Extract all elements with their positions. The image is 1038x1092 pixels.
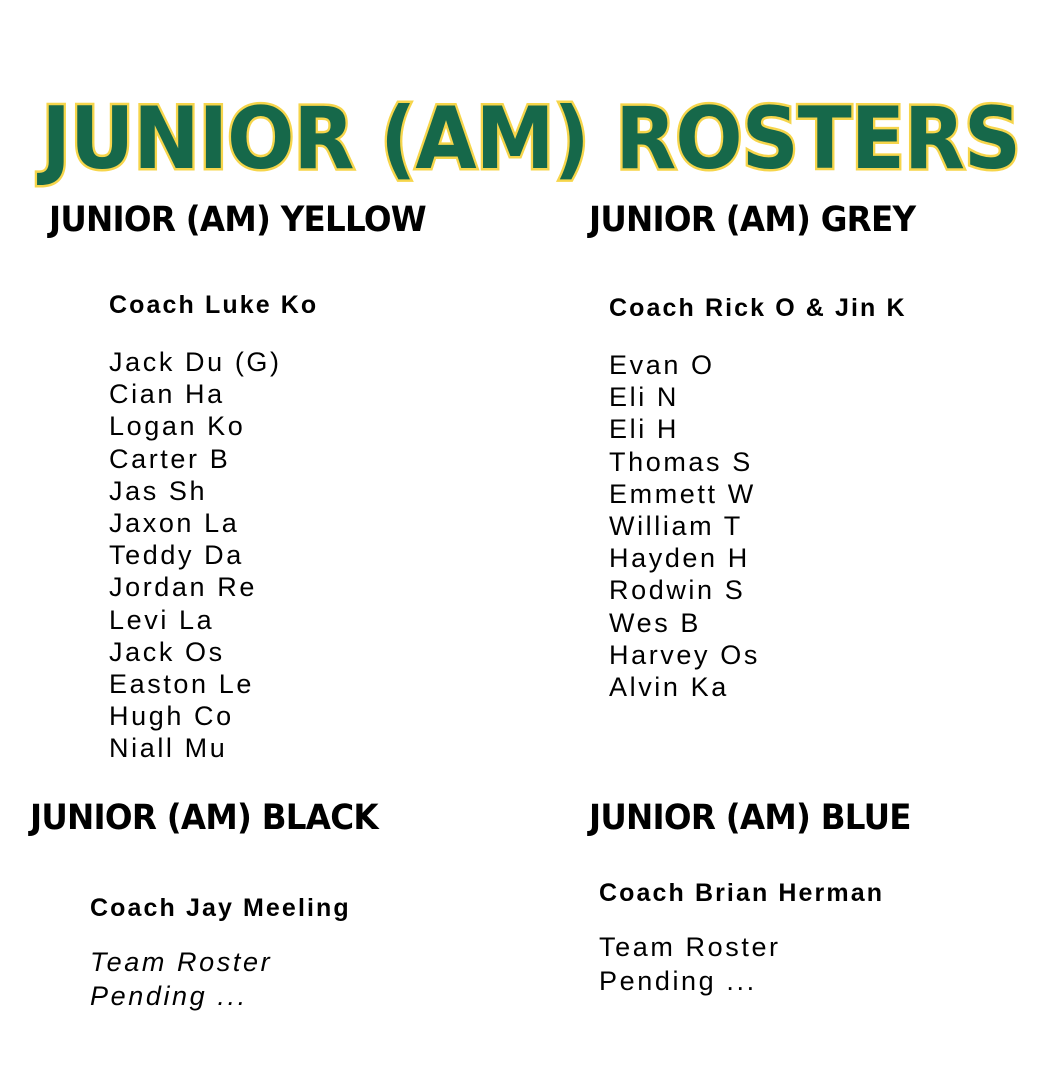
list-item: Evan O xyxy=(609,349,940,381)
pending-line: Team Roster xyxy=(599,930,935,964)
list-item: Easton Le xyxy=(109,668,454,700)
coach-name-yellow: Coach Luke Ko xyxy=(109,290,454,320)
section-header-yellow: JUNIOR (AM) YELLOW xyxy=(49,203,426,238)
list-item: Alvin Ka xyxy=(609,671,940,703)
list-item: Eli N xyxy=(609,381,940,413)
list-item: Eli H xyxy=(609,413,940,445)
section-header-blue: JUNIOR (AM) BLUE xyxy=(589,801,911,836)
roster-section-black: JUNIOR (AM) BLACK Coach Jay Meeling Team… xyxy=(30,801,404,1013)
pending-line: Team Roster xyxy=(90,945,404,979)
page-title: JUNIOR (AM) ROSTERS xyxy=(42,96,997,182)
coach-name-grey: Coach Rick O & Jin K xyxy=(609,293,940,323)
list-item: Teddy Da xyxy=(109,539,454,571)
section-header-grey: JUNIOR (AM) GREY xyxy=(589,203,915,238)
list-item: Jack Du (G) xyxy=(109,346,454,378)
roster-section-yellow: JUNIOR (AM) YELLOW Coach Luke Ko Jack Du… xyxy=(49,203,454,765)
list-item: Wes B xyxy=(609,607,940,639)
list-item: Hugh Co xyxy=(109,700,454,732)
roster-list-grey: Evan O Eli N Eli H Thomas S Emmett W Wil… xyxy=(609,349,940,703)
roster-section-grey: JUNIOR (AM) GREY Coach Rick O & Jin K Ev… xyxy=(589,203,940,703)
list-item: William T xyxy=(609,510,940,542)
roster-list-yellow: Jack Du (G) Cian Ha Logan Ko Carter B Ja… xyxy=(109,346,454,765)
list-item: Jordan Re xyxy=(109,571,454,603)
roster-section-blue: JUNIOR (AM) BLUE Coach Brian Herman Team… xyxy=(589,801,935,998)
list-item: Harvey Os xyxy=(609,639,940,671)
list-item: Niall Mu xyxy=(109,732,454,764)
list-item: Emmett W xyxy=(609,478,940,510)
list-item: Jas Sh xyxy=(109,475,454,507)
coach-name-blue: Coach Brian Herman xyxy=(599,878,935,908)
list-item: Rodwin S xyxy=(609,574,940,606)
list-item: Thomas S xyxy=(609,446,940,478)
list-item: Cian Ha xyxy=(109,378,454,410)
list-item: Jack Os xyxy=(109,636,454,668)
list-item: Levi La xyxy=(109,604,454,636)
pending-line: Pending ... xyxy=(599,964,935,998)
pending-line: Pending ... xyxy=(90,979,404,1013)
roster-pending-blue: Team Roster Pending ... xyxy=(599,930,935,998)
list-item: Carter B xyxy=(109,443,454,475)
list-item: Hayden H xyxy=(609,542,940,574)
roster-pending-black: Team Roster Pending ... xyxy=(90,945,404,1013)
list-item: Logan Ko xyxy=(109,410,454,442)
coach-name-black: Coach Jay Meeling xyxy=(90,893,404,923)
list-item: Jaxon La xyxy=(109,507,454,539)
section-header-black: JUNIOR (AM) BLACK xyxy=(30,801,378,836)
